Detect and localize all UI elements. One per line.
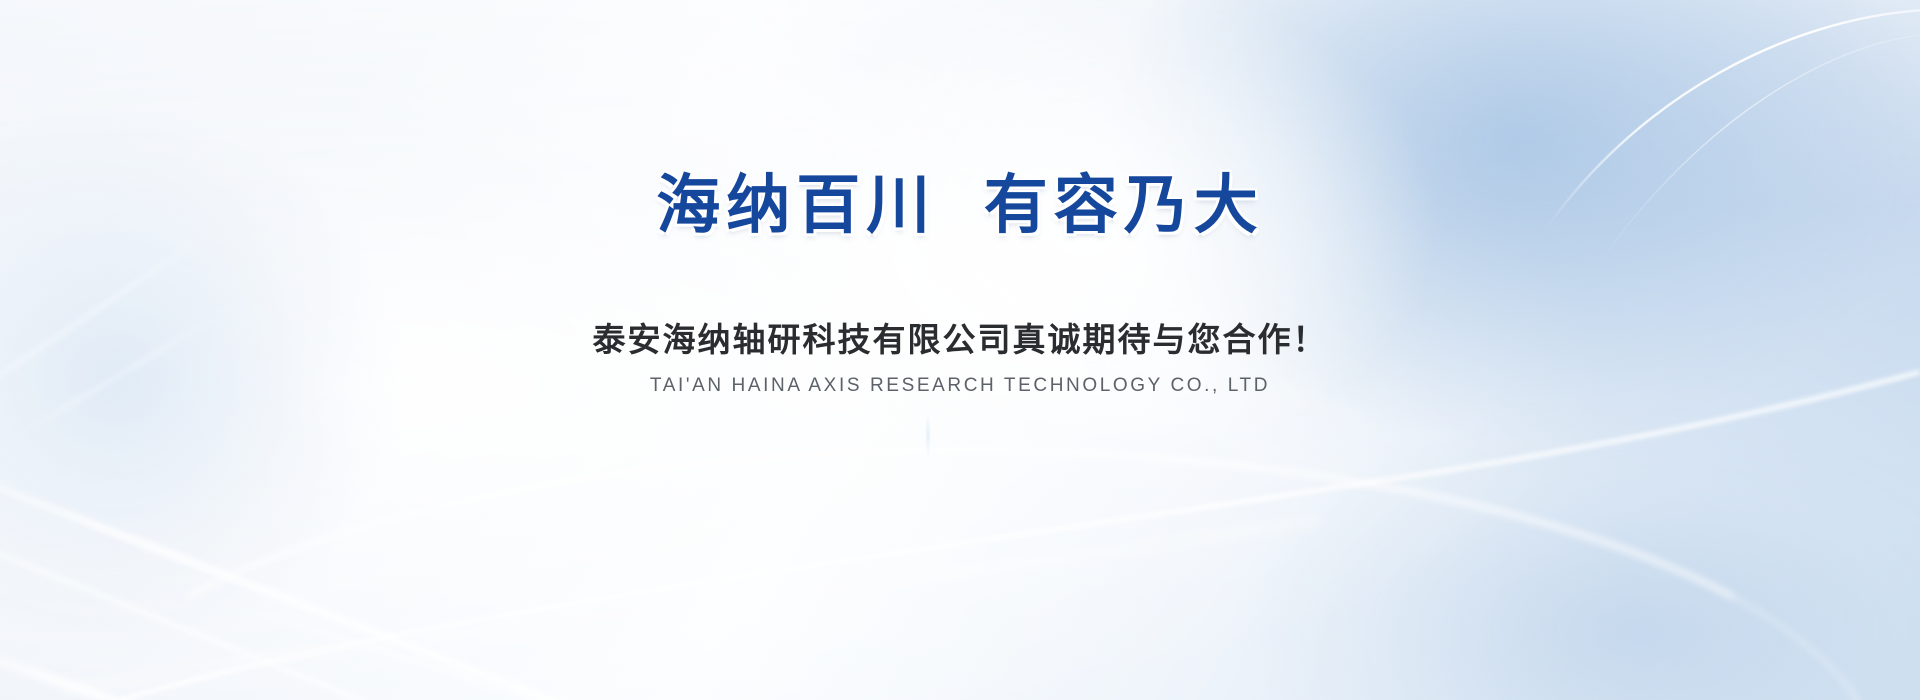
hero-banner: 海纳百川 有容乃大 泰安海纳轴研科技有限公司真诚期待与您合作！ TAI'AN H… (0, 0, 1920, 700)
banner-subtitle-english: TAI'AN HAINA AXIS RESEARCH TECHNOLOGY CO… (650, 362, 1270, 400)
banner-headline: 海纳百川 有容乃大 (656, 0, 1264, 244)
banner-subtitle-chinese: 泰安海纳轴研科技有限公司真诚期待与您合作！ (593, 244, 1328, 363)
banner-content: 海纳百川 有容乃大 泰安海纳轴研科技有限公司真诚期待与您合作！ TAI'AN H… (0, 0, 1920, 700)
